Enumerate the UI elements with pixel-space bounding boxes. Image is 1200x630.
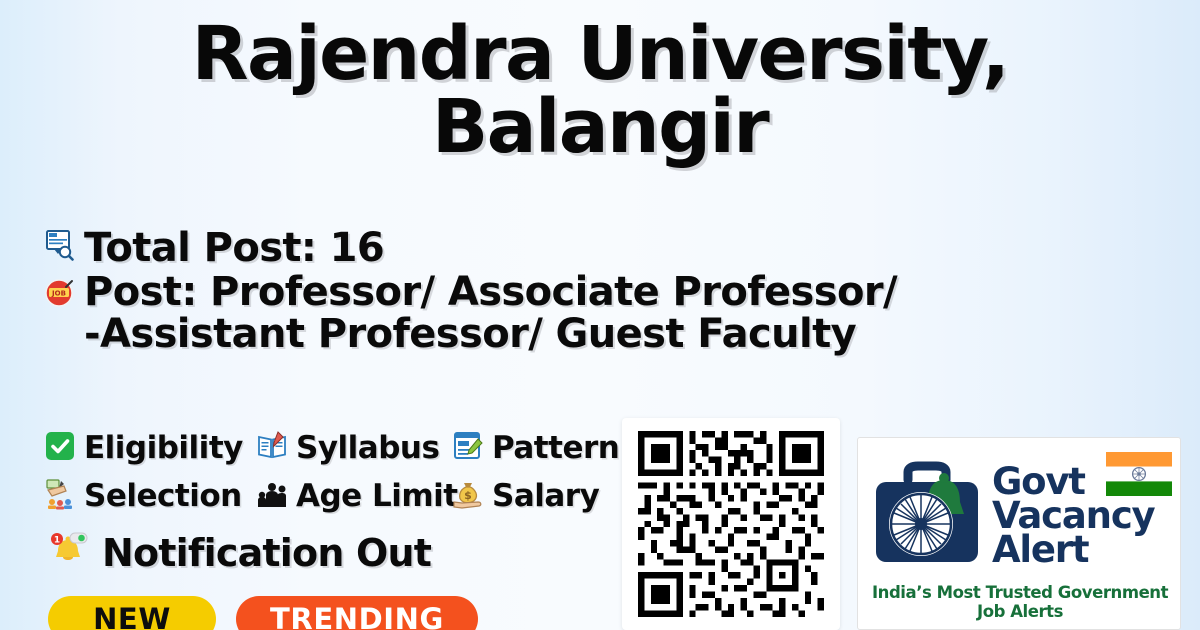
feature-label: Selection xyxy=(84,481,242,512)
money-bag-hand-icon: $ xyxy=(452,478,484,515)
feature-label: Syllabus xyxy=(296,433,439,464)
badge-trending[interactable]: TRENDING xyxy=(236,596,478,630)
badge-row: NEW TRENDING xyxy=(48,596,478,630)
badge-new[interactable]: NEW xyxy=(48,596,216,630)
feature-label: Age Limit xyxy=(296,481,458,512)
page-title: Rajendra University, Balangir xyxy=(60,18,1140,165)
feature-syllabus[interactable]: Syllabus xyxy=(256,428,452,469)
feature-label: Salary xyxy=(492,481,599,512)
qr-code-card[interactable] xyxy=(622,418,840,630)
total-post-row: Total Post: 16 xyxy=(44,228,1004,268)
hand-picking-person-icon xyxy=(44,478,76,515)
check-mark-icon xyxy=(44,430,76,467)
feature-label: Pattern xyxy=(492,433,619,464)
logo-tagline: India’s Most Trusted Government Job Aler… xyxy=(858,583,1181,621)
bell-icon: 1 xyxy=(46,528,90,577)
info-block: Total Post: 16 JOB Post: Professor/ Asso… xyxy=(44,228,1004,354)
svg-text:JOB: JOB xyxy=(51,289,66,297)
post-row: JOB Post: Professor/ Associate Professor… xyxy=(44,272,1004,354)
post-label-line2: -Assistant Professor/ Guest Faculty xyxy=(84,314,897,354)
logo-word-alert: Alert xyxy=(992,533,1154,567)
title-container: Rajendra University, Balangir xyxy=(0,18,1200,165)
feature-label: Eligibility xyxy=(84,433,243,464)
qr-code[interactable] xyxy=(638,431,824,617)
total-post-label: Total Post: 16 xyxy=(84,228,384,268)
poster-canvas: Rajendra University, Balangir Total Post… xyxy=(0,0,1200,630)
job-badge-icon: JOB xyxy=(44,278,74,313)
feature-selection[interactable]: Selection xyxy=(44,476,256,517)
people-group-icon xyxy=(256,478,288,515)
post-label-line1: Post: Professor/ Associate Professor/ xyxy=(84,272,897,312)
brand-logo-card: Govt Vacancy Alert India’s Most Trusted … xyxy=(857,437,1181,630)
svg-text:1: 1 xyxy=(54,536,60,546)
svg-text:$: $ xyxy=(464,489,472,502)
briefcase-chakra-bell-icon xyxy=(868,458,986,575)
feature-grid: Eligibility Syllabus xyxy=(44,428,664,517)
feature-eligibility[interactable]: Eligibility xyxy=(44,428,256,469)
notification-row: 1 Notification Out xyxy=(46,528,431,577)
notification-label: Notification Out xyxy=(102,531,431,575)
document-search-icon xyxy=(44,228,74,267)
feature-age-limit[interactable]: Age Limit xyxy=(256,476,452,517)
open-book-pen-icon xyxy=(256,430,288,467)
india-flag-icon xyxy=(1106,452,1172,496)
exam-paper-icon xyxy=(452,430,484,467)
